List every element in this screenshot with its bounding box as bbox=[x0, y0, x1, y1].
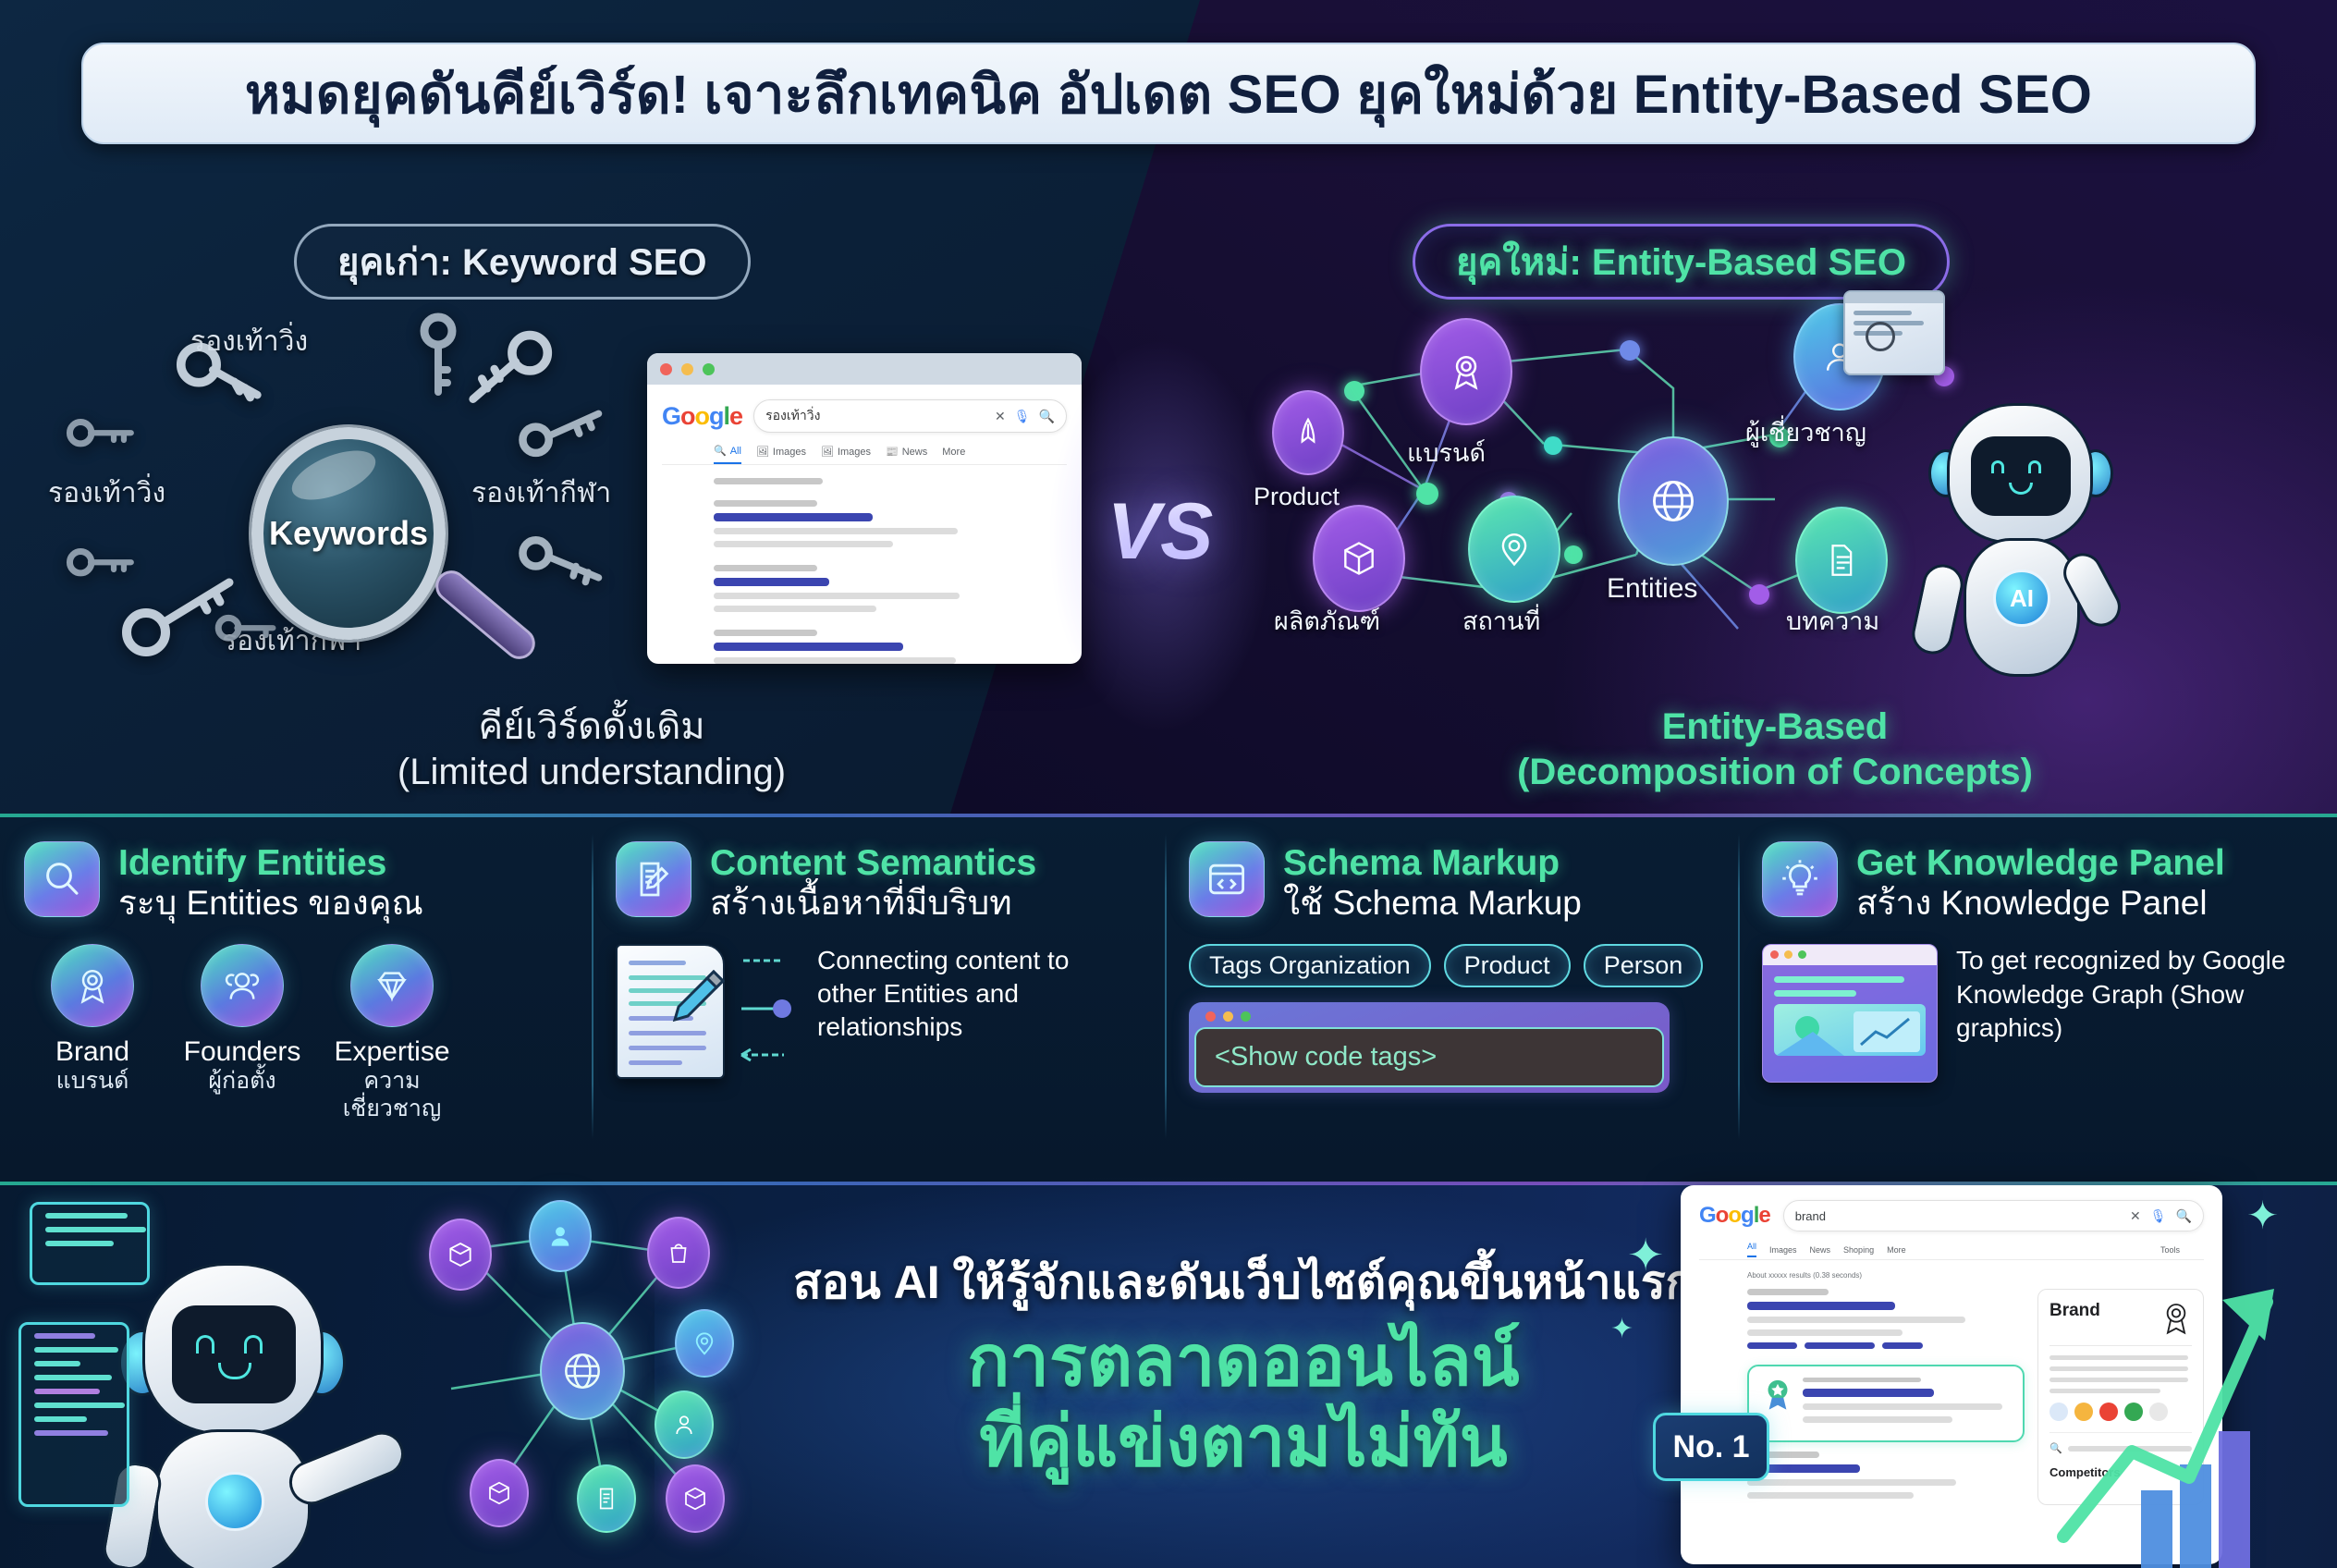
result-placeholder bbox=[1747, 1492, 1914, 1499]
document-pencil-icon bbox=[616, 841, 691, 917]
entity-center-circle bbox=[1618, 436, 1729, 566]
person-icon bbox=[670, 1411, 698, 1439]
card-titles: Get Knowledge Panel สร้าง Knowledge Pane… bbox=[1856, 841, 2225, 924]
card-header: Identify Entities ระบุ Entities ของคุณ bbox=[24, 841, 569, 924]
card-header: Get Knowledge Panel สร้าง Knowledge Pane… bbox=[1762, 841, 2315, 924]
entity-chip-expertise[interactable]: Expertise ความเชี่ยวชาญ bbox=[329, 944, 455, 1122]
infographic-canvas: หมดยุคดันคีย์เวิร์ด! เจาะลึกเทคนิค อัปเด… bbox=[0, 0, 2337, 1568]
card-body: Connecting content to other Entities and… bbox=[616, 944, 1143, 1079]
card-title-en: Content Semantics bbox=[710, 843, 1036, 884]
feature-card-schema-markup[interactable]: Schema Markup ใช้ Schema Markup Tags Org… bbox=[1165, 821, 1738, 1183]
minimize-window-dot[interactable] bbox=[681, 363, 693, 375]
tab-label: All bbox=[1747, 1242, 1756, 1251]
new-era-caption-en: (Decomposition of Concepts) bbox=[1442, 750, 2108, 795]
entity-label-product-en: Product bbox=[1254, 483, 1340, 511]
entity-chip-label-th: แบรนด์ bbox=[30, 1067, 155, 1095]
people-icon bbox=[201, 944, 284, 1027]
people-glyph bbox=[221, 964, 263, 1007]
footer-tagline-line1: การตลาดออนไลน์ bbox=[767, 1322, 1719, 1403]
news-icon: 📰 bbox=[886, 446, 899, 458]
tab-label: Images bbox=[1769, 1245, 1797, 1255]
footer-headline: สอน AI ให้รู้จักและดันเว็บไซต์คุณขึ้นหน้… bbox=[767, 1246, 1719, 1319]
footer-node-box2 bbox=[666, 1464, 725, 1533]
google-search-mockup-old[interactable]: Google รองเท้าวิ่ง ✕ 🎙 🔍 🔍All 🖼Images 🖼I… bbox=[647, 353, 1082, 664]
tab-label: More bbox=[1887, 1245, 1906, 1255]
close-window-dot[interactable] bbox=[660, 363, 672, 375]
tab-label: Shoping bbox=[1843, 1245, 1874, 1255]
graph-junction-dot bbox=[1344, 381, 1364, 401]
entity-chip-label-en: Brand bbox=[30, 1036, 155, 1067]
window-content bbox=[1763, 965, 1937, 1067]
footer-node-place bbox=[675, 1309, 734, 1378]
search-icon[interactable]: 🔍 bbox=[1039, 409, 1055, 424]
entity-label-place: สถานที่ bbox=[1462, 601, 1540, 641]
result-placeholder bbox=[1747, 1317, 1965, 1323]
code-snippet-window[interactable]: <Show code tags> bbox=[1189, 1002, 1670, 1093]
entity-chip-label-en: Expertise bbox=[329, 1036, 455, 1067]
chat-bubble-code bbox=[18, 1322, 129, 1507]
graph-junction-dot bbox=[1564, 545, 1583, 564]
code-window-icon bbox=[1189, 841, 1265, 917]
tab-label: News bbox=[902, 447, 928, 458]
key-icon bbox=[213, 601, 277, 656]
badge-new-era-label: ยุคใหม่: Entity-Based SEO bbox=[1456, 232, 1906, 291]
ribbon-award-glyph bbox=[71, 964, 114, 1007]
schema-tag-person[interactable]: Person bbox=[1584, 944, 1704, 987]
result-placeholder bbox=[714, 478, 823, 484]
close-window-dot[interactable] bbox=[1770, 950, 1779, 959]
keyword-label-right: รองเท้ากีฬา bbox=[471, 472, 611, 515]
knowledge-panel-preview: To get recognized by Google Knowledge Gr… bbox=[1762, 944, 2315, 1083]
page-title: หมดยุคดันคีย์เวิร์ด! เจาะลึกเทคนิค อัปเด… bbox=[245, 51, 2092, 137]
result-placeholder bbox=[1747, 1329, 1903, 1336]
entity-node-item[interactable] bbox=[1313, 505, 1405, 612]
google-logo: Google bbox=[1699, 1203, 1770, 1229]
entity-label-item: ผลิตภัณฑ์ bbox=[1274, 601, 1380, 641]
document-icon bbox=[593, 1486, 619, 1512]
new-era-caption-th: Entity-Based bbox=[1442, 704, 2108, 750]
microphone-icon[interactable]: 🎙 bbox=[1014, 409, 1031, 424]
robot-eye-left bbox=[196, 1335, 214, 1354]
search-query-text: brand bbox=[1795, 1209, 2121, 1223]
box-icon bbox=[681, 1485, 709, 1513]
footer-node-bag bbox=[647, 1217, 710, 1289]
rocket-icon bbox=[1291, 415, 1326, 450]
location-pin-icon bbox=[691, 1329, 718, 1357]
graph-junction-dot bbox=[1544, 436, 1562, 455]
result-placeholder bbox=[714, 630, 817, 636]
minimize-window-dot[interactable] bbox=[1784, 950, 1793, 959]
card-title-en: Get Knowledge Panel bbox=[1856, 843, 2225, 884]
code-snippet-text: <Show code tags> bbox=[1194, 1027, 1664, 1087]
entity-chip-label-en: Founders bbox=[179, 1036, 305, 1067]
pencil-icon bbox=[671, 966, 727, 1035]
keyword-cloud: รองเท้าวิ่ง รองเท้าวิ่ง รองเท้ากีฬา รองเ… bbox=[55, 324, 647, 684]
globe-icon bbox=[1646, 474, 1700, 528]
robot-mini-panel-search-icon bbox=[1866, 322, 1895, 351]
badge-new-era: ยุคใหม่: Entity-Based SEO bbox=[1413, 224, 1950, 300]
ribbon-award-icon bbox=[1445, 350, 1487, 393]
tools-button[interactable]: Tools bbox=[2160, 1245, 2180, 1255]
card-title-th: สร้าง Knowledge Panel bbox=[1856, 884, 2225, 924]
card-header: Schema Markup ใช้ Schema Markup bbox=[1189, 841, 1716, 924]
result-placeholder bbox=[714, 657, 956, 664]
robot-face-screen bbox=[172, 1305, 296, 1403]
card-titles: Schema Markup ใช้ Schema Markup bbox=[1283, 841, 1582, 924]
key-icon bbox=[405, 312, 470, 398]
footer-node-person bbox=[529, 1200, 592, 1272]
result-placeholder bbox=[714, 500, 817, 507]
magnifier-label: Keywords bbox=[269, 514, 428, 553]
rank-badge: No. 1 bbox=[1653, 1413, 1769, 1481]
shopping-bag-icon bbox=[665, 1239, 692, 1267]
image-icon: 🖼 bbox=[756, 446, 769, 458]
old-era-caption-th: คีย์เวิร์ดดั้งเดิม bbox=[305, 704, 878, 750]
tab-more[interactable]: More bbox=[942, 445, 965, 464]
chart-thumbnail bbox=[1774, 1004, 1926, 1056]
footer-tagline-line2: ที่คู่แข่งตามไม่ทัน bbox=[767, 1403, 1719, 1483]
search-input[interactable]: รองเท้าวิ่ง ✕ 🎙 🔍 bbox=[753, 399, 1067, 433]
close-icon[interactable]: ✕ bbox=[2130, 1208, 2141, 1224]
result-placeholder bbox=[1747, 1479, 1956, 1486]
window-titlebar bbox=[1763, 945, 1937, 965]
footer-node-box bbox=[429, 1219, 492, 1291]
new-era-caption: Entity-Based (Decomposition of Concepts) bbox=[1442, 704, 2108, 795]
robot-ai-badge: AI bbox=[1993, 570, 2050, 627]
feature-cards-row: Identify Entities ระบุ Entities ของคุณ B… bbox=[0, 821, 2337, 1183]
search-icon[interactable]: 🔍 bbox=[2176, 1208, 2192, 1224]
tab-label: Images bbox=[838, 447, 871, 458]
tab-news[interactable]: News bbox=[1810, 1245, 1831, 1255]
robot-mouth bbox=[218, 1363, 251, 1379]
feature-card-knowledge-panel[interactable]: Get Knowledge Panel สร้าง Knowledge Pane… bbox=[1738, 821, 2337, 1183]
entity-label-article: บทความ bbox=[1786, 601, 1879, 641]
result-title-placeholder bbox=[714, 578, 829, 586]
search-header: Google brand ✕ 🎙 🔍 bbox=[1699, 1200, 2204, 1231]
tab-images-1[interactable]: 🖼Images bbox=[756, 445, 806, 464]
location-pin-icon bbox=[1494, 529, 1535, 570]
card-titles: Content Semantics สร้างเนื้อหาที่มีบริบท bbox=[710, 841, 1036, 924]
robot-ai-badge-label: AI bbox=[2010, 584, 2034, 613]
content-diagram: Connecting content to other Entities and… bbox=[616, 944, 1143, 1079]
diamond-icon bbox=[350, 944, 434, 1027]
tab-images-2[interactable]: 🖼Images bbox=[821, 445, 871, 464]
card-title-th: ใช้ Schema Markup bbox=[1283, 884, 1582, 924]
card-titles: Identify Entities ระบุ Entities ของคุณ bbox=[118, 841, 423, 924]
entity-chip-list: Brand แบรนด์ Founders ผู้ก่อตั้ง bbox=[24, 944, 569, 1122]
result-placeholder bbox=[714, 606, 876, 612]
magnifier-lens: Keywords bbox=[251, 427, 446, 640]
result-title-placeholder bbox=[1747, 1302, 1895, 1310]
result-placeholder bbox=[1803, 1403, 2002, 1410]
schema-tag-organization[interactable]: Tags Organization bbox=[1189, 944, 1431, 987]
old-era-caption-en: (Limited understanding) bbox=[305, 750, 878, 795]
robot-eye-left bbox=[1991, 460, 2004, 473]
magnifier-icon bbox=[24, 841, 100, 917]
robot-eye-right bbox=[244, 1335, 263, 1354]
entity-chip-brand[interactable]: Brand แบรนด์ bbox=[30, 944, 155, 1122]
tab-more[interactable]: More bbox=[1887, 1245, 1906, 1255]
vs-divider: VS bbox=[1086, 472, 1234, 592]
search-results bbox=[1747, 1289, 2025, 1505]
footer-entity-network bbox=[388, 1193, 777, 1562]
person-icon bbox=[545, 1221, 575, 1251]
tab-images[interactable]: Images bbox=[1769, 1245, 1797, 1255]
key-icon bbox=[65, 407, 137, 460]
result-placeholder bbox=[1747, 1289, 1829, 1295]
footer-tagline: การตลาดออนไลน์ ที่คู่แข่งตามไม่ทัน bbox=[767, 1322, 1719, 1482]
document-pencil-glyph bbox=[631, 857, 676, 901]
tab-label: All bbox=[730, 446, 741, 457]
sparkle-icon: ✦ bbox=[1610, 1313, 1633, 1345]
card-title-en: Identify Entities bbox=[118, 843, 423, 884]
google-logo: Google bbox=[662, 402, 742, 431]
entity-node-product-en[interactable] bbox=[1272, 390, 1344, 475]
search-tabs: All Images News Shoping More Tools bbox=[1747, 1242, 2204, 1257]
maximize-window-dot[interactable] bbox=[1241, 1011, 1251, 1022]
robot-chest-core bbox=[205, 1472, 264, 1531]
key-icon bbox=[176, 338, 264, 412]
search-results bbox=[714, 478, 1067, 664]
search-header: Google รองเท้าวิ่ง ✕ 🎙 🔍 bbox=[662, 399, 1067, 433]
sparkle-icon: ✦ bbox=[2246, 1193, 2279, 1238]
ribbon-award-icon bbox=[51, 944, 134, 1027]
box-icon bbox=[485, 1479, 513, 1507]
feature-card-identify-entities[interactable]: Identify Entities ระบุ Entities ของคุณ B… bbox=[0, 821, 592, 1183]
entity-node-brand[interactable] bbox=[1420, 318, 1512, 425]
lightbulb-glyph bbox=[1778, 857, 1822, 901]
result-url-placeholder bbox=[1803, 1378, 1921, 1382]
diamond-glyph bbox=[371, 964, 413, 1007]
magnifier-glyph bbox=[40, 857, 84, 901]
entity-label-brand: แบรนด์ bbox=[1407, 433, 1486, 472]
footer-node-globe-center bbox=[540, 1322, 625, 1420]
code-window-controls bbox=[1194, 1008, 1664, 1027]
footer-node-box3 bbox=[470, 1459, 529, 1527]
entity-node-place[interactable] bbox=[1468, 496, 1560, 603]
entity-chip-label-th: ความเชี่ยวชาญ bbox=[329, 1067, 455, 1122]
robot-eye-right bbox=[2028, 460, 2041, 473]
result-title-placeholder bbox=[1803, 1389, 1934, 1397]
search-input[interactable]: brand ✕ 🎙 🔍 bbox=[1783, 1200, 2204, 1231]
tab-label: News bbox=[1810, 1245, 1831, 1255]
result-placeholder bbox=[714, 593, 960, 599]
card-body-text: To get recognized by Google Knowledge Gr… bbox=[1956, 944, 2315, 1047]
close-icon[interactable]: ✕ bbox=[995, 409, 1006, 424]
result-placeholder bbox=[1803, 1416, 1952, 1423]
card-title-th: ระบุ Entities ของคุณ bbox=[118, 884, 423, 924]
graph-junction-dot bbox=[1620, 340, 1640, 361]
entity-node-article[interactable] bbox=[1795, 507, 1888, 614]
entity-chip-founders[interactable]: Founders ผู้ก่อตั้ง bbox=[179, 944, 305, 1122]
window-titlebar bbox=[647, 353, 1082, 385]
footer-node-doc bbox=[577, 1464, 636, 1533]
globe-icon bbox=[559, 1348, 606, 1394]
key-icon bbox=[516, 405, 605, 466]
lightbulb-icon bbox=[1762, 841, 1838, 917]
box-icon bbox=[1339, 538, 1379, 579]
old-era-caption: คีย์เวิร์ดดั้งเดิม (Limited understandin… bbox=[305, 704, 878, 795]
tab-all[interactable]: All bbox=[1747, 1242, 1756, 1257]
robot-face-screen bbox=[1971, 436, 2071, 516]
feature-card-content-semantics[interactable]: Content Semantics สร้างเนื้อหาที่มีบริบท bbox=[592, 821, 1165, 1183]
schema-tag-list: Tags Organization Product Person bbox=[1189, 944, 1716, 987]
badge-old-era: ยุคเก่า: Keyword SEO bbox=[294, 224, 751, 300]
card-header: Content Semantics สร้างเนื้อหาที่มีบริบท bbox=[616, 841, 1143, 924]
tabs-divider bbox=[662, 464, 1067, 465]
highlighted-result-card[interactable] bbox=[1747, 1365, 2025, 1442]
card-title-en: Schema Markup bbox=[1283, 843, 1582, 884]
graph-junction-dot bbox=[1749, 584, 1769, 605]
robot-mouth bbox=[2009, 483, 2033, 495]
keyword-label-left: รองเท้าวิ่ง bbox=[48, 472, 165, 515]
badge-old-era-label: ยุคเก่า: Keyword SEO bbox=[337, 232, 707, 291]
result-placeholder bbox=[714, 528, 958, 534]
knowledge-panel-window bbox=[1762, 944, 1938, 1083]
minimize-window-dot[interactable] bbox=[1223, 1011, 1233, 1022]
graph-junction-dot bbox=[1416, 483, 1438, 505]
card-body-text: Connecting content to other Entities and… bbox=[817, 944, 1095, 1045]
chart-glyph bbox=[1774, 1004, 1926, 1056]
schema-tag-product[interactable]: Product bbox=[1444, 944, 1571, 987]
search-icon: 🔍 bbox=[714, 445, 727, 457]
box-icon bbox=[446, 1240, 475, 1269]
browser-content: Google รองเท้าวิ่ง ✕ 🎙 🔍 🔍All 🖼Images 🖼I… bbox=[647, 385, 1082, 664]
code-window-glyph bbox=[1205, 857, 1249, 901]
tab-label: More bbox=[942, 447, 965, 458]
card-body: Tags Organization Product Person <Show c… bbox=[1189, 944, 1716, 1093]
sparkle-icon: ✦ bbox=[1627, 1230, 1664, 1281]
result-placeholder bbox=[714, 541, 893, 547]
rank-badge-label: No. 1 bbox=[1672, 1429, 1749, 1465]
tab-shopping[interactable]: Shoping bbox=[1843, 1245, 1874, 1255]
ribbon-award-icon bbox=[1762, 1378, 1793, 1413]
document-illustration bbox=[616, 944, 725, 1079]
connector-lines bbox=[738, 944, 795, 1079]
growth-arrow-chart bbox=[2023, 1263, 2300, 1568]
entity-node-center[interactable] bbox=[1618, 436, 1729, 566]
tab-label: Images bbox=[773, 447, 806, 458]
card-body: To get recognized by Google Knowledge Gr… bbox=[1762, 944, 2315, 1083]
search-tabs: 🔍All 🖼Images 🖼Images 📰News More bbox=[714, 445, 1067, 464]
page-title-bar: หมดยุคดันคีย์เวิร์ด! เจาะลึกเทคนิค อัปเด… bbox=[81, 43, 2256, 144]
close-window-dot[interactable] bbox=[1205, 1011, 1216, 1022]
entity-chip-label-th: ผู้ก่อตั้ง bbox=[179, 1067, 305, 1095]
search-query-text: รองเท้าวิ่ง bbox=[765, 406, 986, 426]
document-icon bbox=[1822, 541, 1861, 580]
card-body: Brand แบรนด์ Founders ผู้ก่อตั้ง bbox=[24, 944, 569, 1122]
entity-label-center: Entities bbox=[1607, 573, 1697, 605]
maximize-window-dot[interactable] bbox=[1798, 950, 1806, 959]
chat-bubble-top bbox=[30, 1202, 150, 1285]
lens-gloss bbox=[286, 441, 383, 510]
microphone-icon[interactable]: 🎙 bbox=[2150, 1208, 2167, 1224]
result-title-placeholder bbox=[714, 513, 873, 521]
tab-all[interactable]: 🔍All bbox=[714, 445, 741, 464]
result-title-placeholder bbox=[714, 643, 903, 651]
result-placeholder bbox=[714, 565, 817, 571]
image-icon: 🖼 bbox=[821, 446, 834, 458]
key-icon bbox=[466, 329, 555, 410]
card-title-th: สร้างเนื้อหาที่มีบริบท bbox=[710, 884, 1036, 924]
footer-node-user bbox=[655, 1390, 714, 1459]
maximize-window-dot[interactable] bbox=[703, 363, 715, 375]
divider-top bbox=[0, 814, 2337, 817]
key-icon bbox=[516, 529, 605, 590]
entity-label-expert: ผู้เชี่ยวชาญ bbox=[1745, 412, 1866, 452]
tab-news[interactable]: 📰News bbox=[886, 445, 927, 464]
ai-robot-illustration: AI bbox=[1923, 370, 2200, 693]
